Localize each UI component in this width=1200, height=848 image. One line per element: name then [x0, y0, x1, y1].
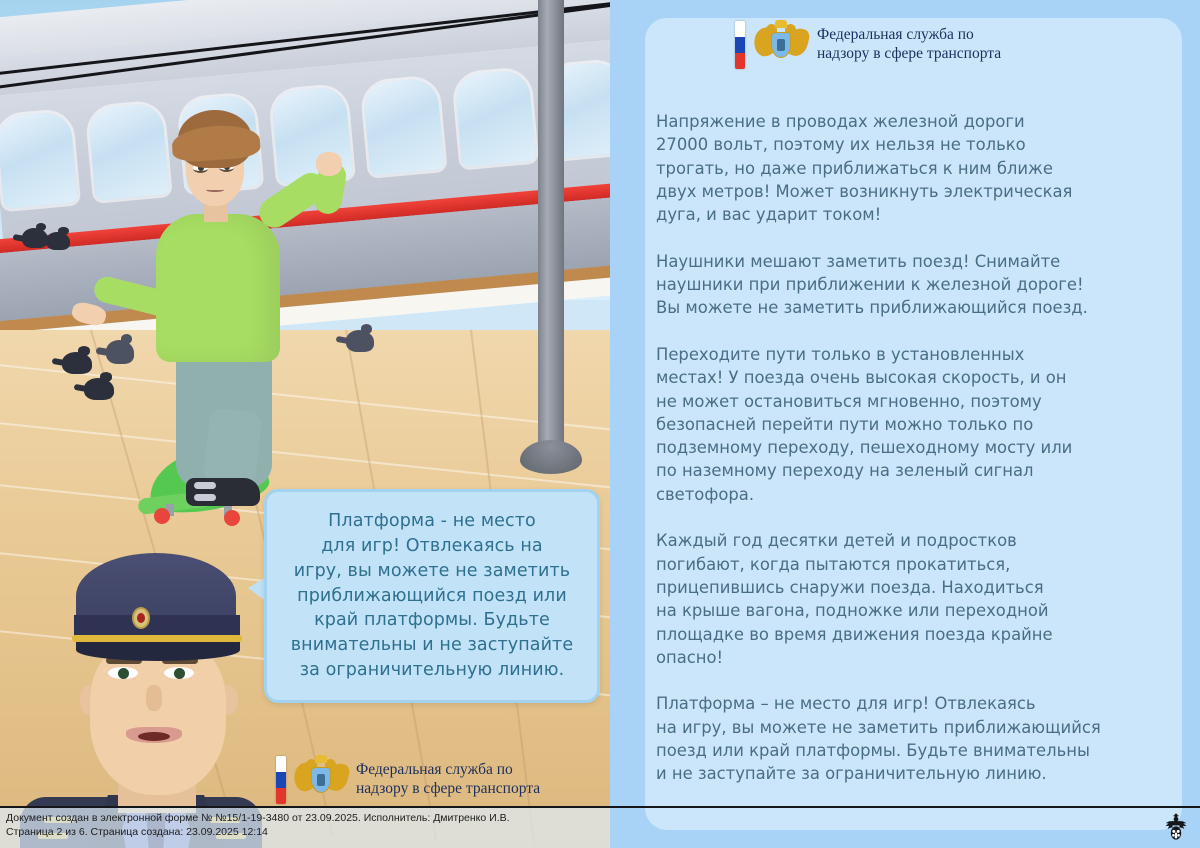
agency-name-line1: Федеральная служба по	[356, 761, 540, 780]
officer-mouth-opening	[138, 732, 170, 741]
officer-cap-band	[74, 615, 240, 637]
skateboard-wheel	[224, 510, 240, 526]
skater-mouth	[206, 186, 224, 192]
train-window	[362, 77, 444, 175]
double-headed-eagle-icon	[294, 755, 348, 805]
skateboarder-figure	[120, 110, 370, 510]
document-footer-text: Документ создан в электронной форме № №1…	[6, 811, 606, 839]
skater-hoodie	[156, 214, 280, 362]
skater-right-hand	[316, 152, 342, 176]
platform-pole-base	[520, 440, 582, 474]
pigeon	[62, 352, 92, 374]
safety-rules-text: Напряжение в проводах железной дороги 27…	[656, 110, 1126, 786]
train-window	[454, 69, 536, 167]
footer-divider	[0, 806, 1200, 808]
russian-flag-icon	[276, 756, 286, 804]
officer-nose	[146, 685, 162, 711]
pigeon	[46, 232, 70, 250]
officer-cap-badge-center	[137, 613, 145, 623]
eagle-watermark-icon	[1163, 812, 1189, 842]
officer-pupil	[174, 668, 185, 679]
agency-name-line2: надзору в сфере транспорта	[356, 780, 540, 799]
agency-logo-header: Федеральная служба по надзору в сфере тр…	[735, 20, 1001, 70]
speech-bubble-inner: Платформа - не место для игр! Отвлекаясь…	[267, 492, 597, 700]
pigeon-head	[78, 346, 91, 355]
shoe-lace	[194, 494, 216, 501]
agency-name-header: Федеральная служба по надзору в сфере тр…	[817, 26, 1001, 63]
speech-bubble-text: Платформа - не место для игр! Отвлекаясь…	[291, 509, 573, 683]
officer-cap-gold-cord	[72, 635, 242, 642]
poster-page: Платформа - не место для игр! Отвлекаясь…	[0, 0, 1200, 848]
pigeon-head	[100, 372, 113, 381]
agency-logo-bottom-left: Федеральная служба по надзору в сфере тр…	[276, 752, 606, 808]
agency-name-line2: надзору в сфере транспорта	[817, 45, 1001, 64]
pigeon	[84, 378, 114, 400]
platform-pole	[538, 0, 564, 470]
officer-pupil	[118, 668, 129, 679]
officer-cap-peak	[76, 639, 240, 661]
russian-flag-icon	[735, 21, 745, 69]
double-headed-eagle-icon	[754, 20, 808, 70]
train-window	[0, 111, 78, 209]
text-panel: Федеральная служба по надзору в сфере тр…	[610, 0, 1200, 848]
agency-name-bottom-left: Федеральная служба по надзору в сфере тр…	[356, 761, 540, 798]
transport-inspector-figure	[14, 545, 266, 848]
illustration-panel: Платформа - не место для игр! Отвлекаясь…	[0, 0, 610, 848]
shoe-lace	[194, 482, 216, 489]
agency-name-line1: Федеральная служба по	[817, 26, 1001, 45]
speech-bubble: Платформа - не место для игр! Отвлекаясь…	[264, 489, 600, 703]
skateboard-wheel	[154, 508, 170, 524]
pigeon-head	[58, 227, 68, 235]
